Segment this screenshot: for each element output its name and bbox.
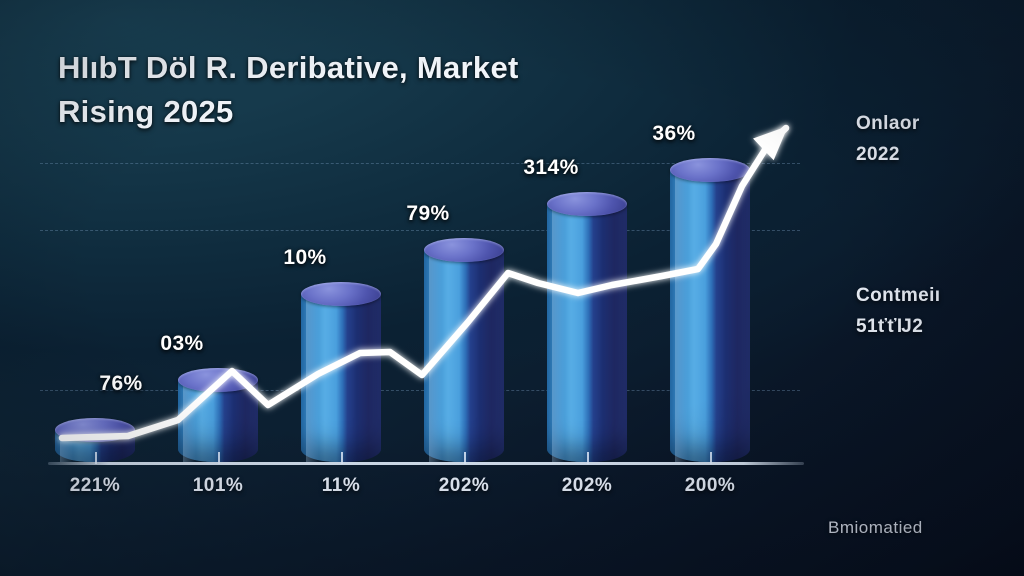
x-axis-label-4: 202%: [527, 475, 647, 497]
bar-value-label-0: 76%: [66, 372, 176, 396]
bar-top-cap-5: [670, 158, 750, 182]
trend-arrowhead-icon: [753, 126, 788, 160]
x-axis-label-5: 200%: [650, 475, 770, 497]
bar-value-label-1: 03%: [127, 332, 237, 356]
x-axis-label-0: 221%: [35, 475, 155, 497]
x-tick-5: [710, 452, 712, 464]
bar-highlight-1: [183, 380, 196, 462]
bar-5[interactable]: [670, 170, 750, 462]
bar-body-4: [547, 204, 627, 462]
bar-value-label-5: 36%: [619, 122, 729, 146]
bar-top-cap-0: [55, 418, 135, 442]
bar-highlight-2: [306, 294, 319, 462]
x-tick-1: [218, 452, 220, 464]
x-tick-2: [341, 452, 343, 464]
bar-3[interactable]: [424, 250, 504, 462]
x-axis-line: [48, 462, 804, 465]
bar-top-cap-4: [547, 192, 627, 216]
bar-value-label-2: 10%: [250, 246, 360, 270]
bar-value-label-3: 79%: [373, 202, 483, 226]
bar-top-cap-1: [178, 368, 258, 392]
plot-area: 221%101%11%202%202%200% 76%03%10%79%314%…: [0, 0, 1024, 576]
x-axis-label-3: 202%: [404, 475, 524, 497]
bar-highlight-4: [552, 204, 565, 462]
x-tick-3: [464, 452, 466, 464]
bar-body-1: [178, 380, 258, 462]
x-axis-label-2: 11%: [281, 475, 401, 497]
bar-body-2: [301, 294, 381, 462]
x-tick-4: [587, 452, 589, 464]
bar-value-label-4: 314%: [496, 156, 606, 180]
bar-top-cap-2: [301, 282, 381, 306]
bar-4[interactable]: [547, 204, 627, 462]
bar-top-cap-3: [424, 238, 504, 262]
bar-body-3: [424, 250, 504, 462]
x-axis-label-1: 101%: [158, 475, 278, 497]
bar-2[interactable]: [301, 294, 381, 462]
chart-canvas: HIıbT Döl R. Deribative, Market Rising 2…: [0, 0, 1024, 576]
x-tick-0: [95, 452, 97, 464]
bar-highlight-3: [429, 250, 442, 462]
bar-1[interactable]: [178, 380, 258, 462]
bar-highlight-5: [675, 170, 688, 462]
bar-body-5: [670, 170, 750, 462]
